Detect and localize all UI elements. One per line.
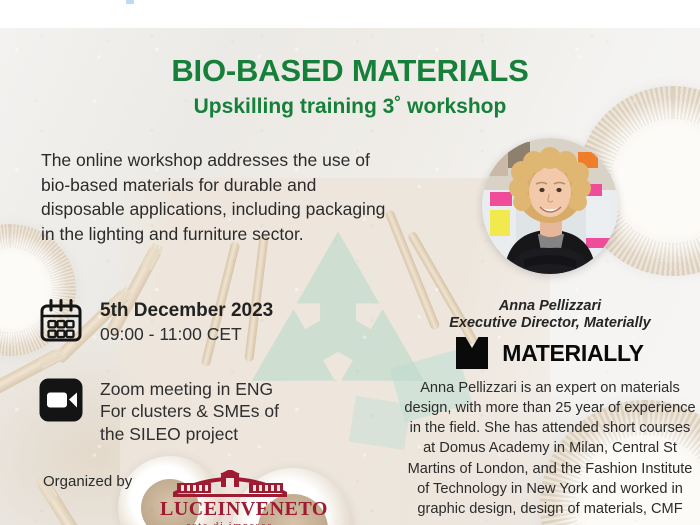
materially-logo: MATERIALLY (400, 337, 700, 369)
materially-wordmark: MATERIALLY (502, 340, 643, 367)
organized-by-label: Organized by (43, 473, 132, 490)
speaker-role: Executive Director, Materially (393, 314, 700, 334)
speaker-bio: Anna Pellizzari is an expert on material… (404, 378, 696, 519)
date-text-group: 5th December 2023 09:00 - 11:00 CET (100, 298, 273, 345)
top-white-strip (0, 0, 700, 28)
event-time: 09:00 - 11:00 CET (100, 323, 273, 345)
page-title: BIO-BASED MATERIALS (0, 53, 700, 89)
poster-canvas: BIO-BASED MATERIALS Upskilling training … (0, 0, 700, 525)
intro-paragraph: The online workshop addresses the use of… (41, 148, 401, 246)
luceinveneto-logo: LUCEINVENETO rete di imprese (160, 470, 300, 525)
luceinveneto-wordmark: LUCEINVENETO (160, 499, 300, 519)
materially-m-mark (456, 337, 488, 369)
top-blue-artifact (126, 0, 134, 4)
rialto-bridge-icon (171, 470, 289, 498)
meeting-info-row: Zoom meeting in ENG For clusters & SMEs … (38, 377, 279, 445)
video-camera-icon (38, 377, 84, 423)
meeting-platform: Zoom meeting in ENG (100, 378, 279, 400)
meeting-text-group: Zoom meeting in ENG For clusters & SMEs … (100, 377, 279, 445)
date-info-row: 5th December 2023 09:00 - 11:00 CET (38, 298, 273, 345)
meeting-audience: For clusters & SMEs of (100, 400, 279, 422)
speaker-portrait (482, 138, 618, 274)
meeting-project: the SILEO project (100, 423, 279, 445)
event-date: 5th December 2023 (100, 299, 273, 323)
calendar-icon (38, 298, 84, 344)
page-subtitle: Upskilling training 3˚ workshop (0, 95, 700, 119)
